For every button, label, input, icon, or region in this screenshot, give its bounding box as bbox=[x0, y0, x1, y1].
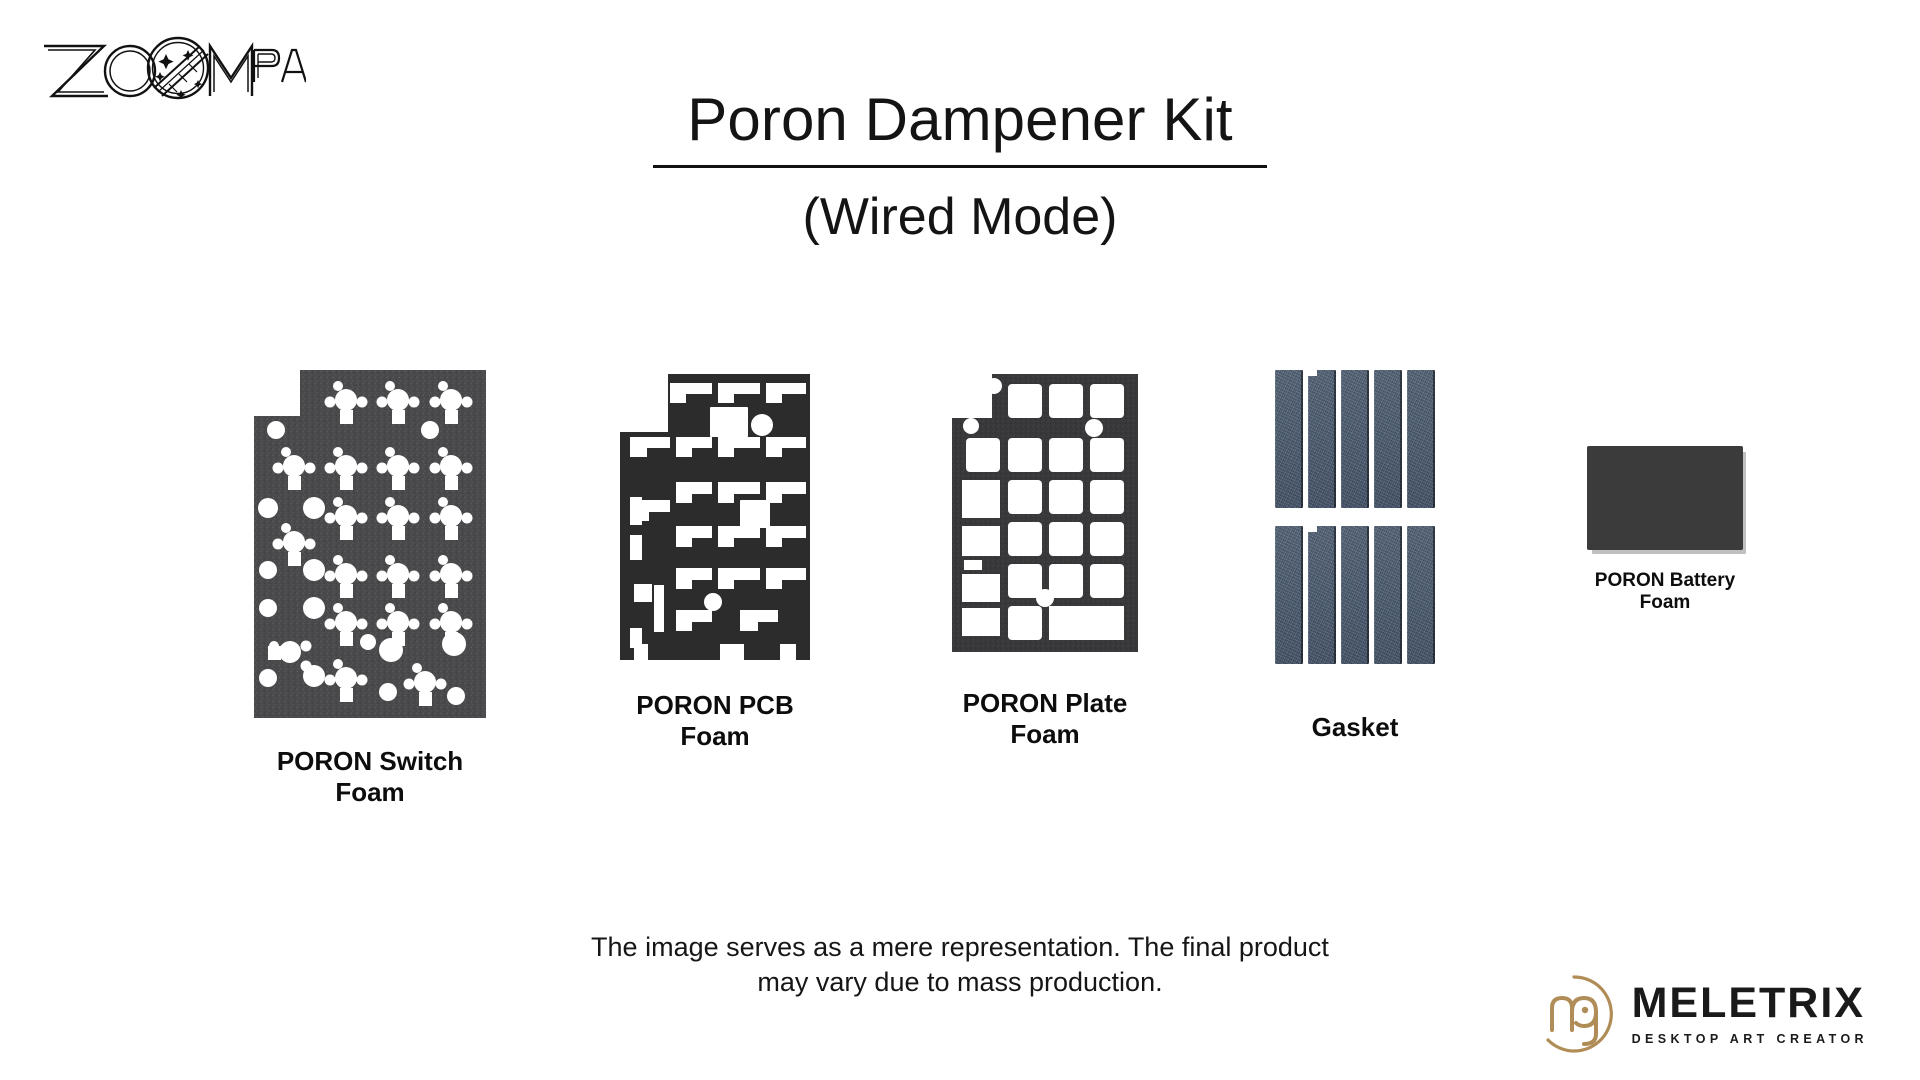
gasket-strip bbox=[1341, 370, 1369, 508]
gasket-strip bbox=[1407, 370, 1435, 508]
meletrix-wordmark: MELETRIX bbox=[1632, 982, 1868, 1025]
part-plate-foam: PORON Plate Foam bbox=[895, 370, 1195, 850]
gasket-visual bbox=[1275, 370, 1435, 664]
meletrix-logo-icon bbox=[1532, 972, 1616, 1056]
part-label-battery-foam: PORON Battery Foam bbox=[1595, 570, 1735, 615]
meletrix-brand: MELETRIX DESKTOP ART CREATOR bbox=[1532, 972, 1868, 1056]
gasket-strip bbox=[1374, 526, 1402, 664]
title-block: Poron Dampener Kit (Wired Mode) bbox=[0, 88, 1920, 245]
battery-foam-visual bbox=[1587, 370, 1743, 550]
switch-foam-shape bbox=[254, 370, 486, 718]
plate-foam-shape bbox=[952, 370, 1138, 652]
parts-row: PORON Switch Foam bbox=[0, 370, 1920, 850]
pcb-foam-visual bbox=[620, 370, 810, 660]
part-pcb-foam: PORON PCB Foam bbox=[565, 370, 865, 850]
pcb-foam-shape bbox=[620, 370, 810, 660]
part-switch-foam: PORON Switch Foam bbox=[210, 370, 530, 850]
gasket-strip bbox=[1275, 526, 1303, 664]
gasket-strip bbox=[1374, 370, 1402, 508]
switch-foam-visual bbox=[254, 370, 486, 718]
gasket-strip bbox=[1407, 526, 1435, 664]
gasket-strip bbox=[1308, 370, 1336, 508]
part-label-gasket: Gasket bbox=[1312, 712, 1399, 743]
page-title: Poron Dampener Kit bbox=[653, 88, 1266, 168]
page-subtitle: (Wired Mode) bbox=[0, 190, 1920, 245]
part-label-plate-foam: PORON Plate Foam bbox=[963, 688, 1128, 749]
battery-foam-shape bbox=[1587, 446, 1743, 550]
part-battery-foam: PORON Battery Foam bbox=[1500, 370, 1830, 850]
part-label-switch-foam: PORON Switch Foam bbox=[277, 746, 463, 807]
gasket-strip bbox=[1275, 370, 1303, 508]
plate-foam-visual bbox=[952, 370, 1138, 652]
part-gasket: Gasket bbox=[1215, 370, 1495, 850]
gasket-group-bottom bbox=[1275, 526, 1435, 664]
gasket-strip bbox=[1341, 526, 1369, 664]
part-label-pcb-foam: PORON PCB Foam bbox=[636, 690, 793, 751]
gasket-group-top bbox=[1275, 370, 1435, 508]
gasket-strip bbox=[1308, 526, 1336, 664]
meletrix-tagline: DESKTOP ART CREATOR bbox=[1632, 1032, 1868, 1046]
